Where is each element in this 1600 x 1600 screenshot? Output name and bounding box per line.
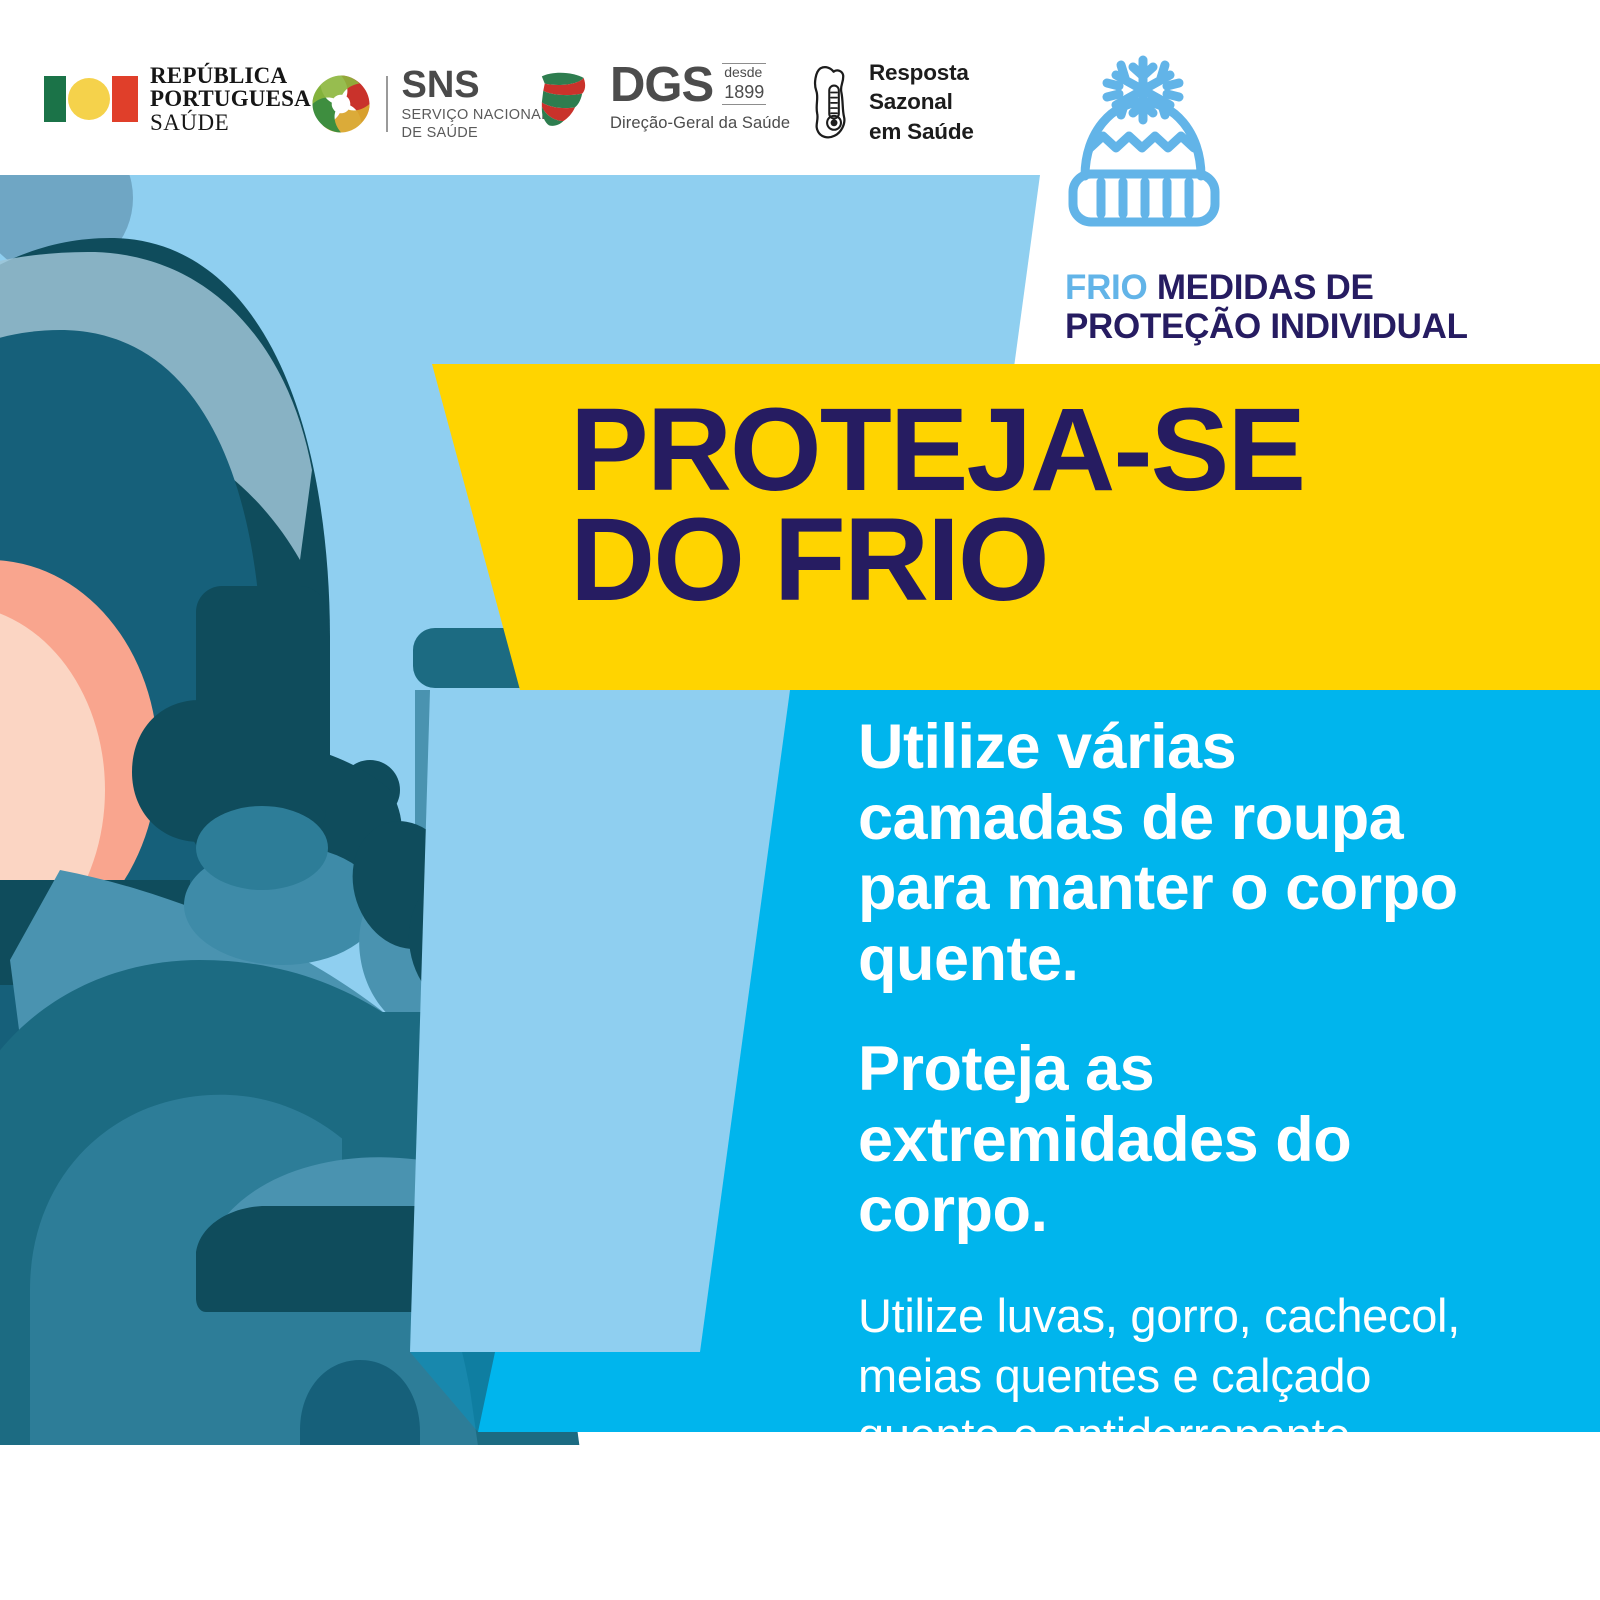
flag-yellow-circle <box>68 78 110 120</box>
headline-group: PROTEJA-SE DO FRIO <box>570 396 1510 615</box>
dgs-since-block: desde 1899 <box>722 63 766 105</box>
resposta-line-1: Resposta <box>869 58 974 87</box>
republica-line-3: SAÚDE <box>150 111 311 134</box>
sns-divider <box>386 76 388 132</box>
body-lead-2: Proteja as extremidades do corpo. <box>858 1034 1518 1246</box>
frio-title: FRIO MEDIDAS DE PROTEÇÃO INDIVIDUAL <box>1065 268 1565 346</box>
headline-line-2: DO FRIO <box>570 506 1510 616</box>
dgs-wordmark: DGS desde 1899 Direção-Geral da Saúde <box>610 63 790 133</box>
dgs-since-year: 1899 <box>724 81 764 104</box>
portugal-flag-icon <box>44 76 138 122</box>
frio-word: FRIO <box>1065 268 1147 307</box>
logo-dgs: DGS desde 1899 Direção-Geral da Saúde <box>526 62 790 134</box>
resposta-sazonal-wordmark: Resposta Sazonal em Saúde <box>869 58 974 146</box>
coat-placket <box>300 1360 420 1600</box>
logo-republica-portuguesa: REPÚBLICA PORTUGUESA SAÚDE <box>44 64 311 134</box>
republica-line-1: REPÚBLICA <box>150 64 311 87</box>
sock-cuff-lower <box>478 690 630 750</box>
dgs-since-label: desde <box>724 64 764 82</box>
headline-line-1: PROTEJA-SE <box>570 396 1510 506</box>
republica-line-2: PORTUGUESA <box>150 87 311 110</box>
sock-cuff-upper <box>413 628 565 688</box>
resposta-line-2: Sazonal <box>869 87 974 116</box>
dgs-shield-icon <box>526 62 598 134</box>
mitten-cuff <box>196 806 328 890</box>
dgs-main-row: DGS desde 1899 <box>610 63 790 108</box>
sns-swirl-icon <box>310 73 372 135</box>
frio-title-line-2: PROTEÇÃO INDIVIDUAL <box>1065 307 1468 346</box>
logo-resposta-sazonal: Resposta Sazonal em Saúde <box>805 58 974 146</box>
body-lead-1: Utilize várias camadas de roupa para man… <box>858 712 1518 994</box>
republica-wordmark: REPÚBLICA PORTUGUESA SAÚDE <box>150 64 311 134</box>
body-detail: Utilize luvas, gorro, cachecol, meias qu… <box>858 1286 1518 1465</box>
flag-green-bar <box>44 76 66 122</box>
resposta-line-3: em Saúde <box>869 117 974 146</box>
logo-sns: SNS SERVIÇO NACIONAL DE SAÚDE <box>310 66 549 142</box>
body-copy-group: Utilize várias camadas de roupa para man… <box>858 712 1518 1465</box>
winter-hat-snowflake-icon <box>1063 50 1283 265</box>
frio-title-rest: MEDIDAS DE <box>1147 268 1373 307</box>
portugal-thermometer-icon <box>805 63 857 141</box>
dgs-subtitle: Direção-Geral da Saúde <box>610 114 790 133</box>
poster-root: PROTEJA-SE DO FRIO Utilize várias camada… <box>0 0 1600 1600</box>
dgs-acronym: DGS <box>610 63 713 108</box>
flag-red-bar <box>112 76 138 122</box>
logo-row: REPÚBLICA PORTUGUESA SAÚDE SNS SERVIÇO N… <box>0 0 1600 180</box>
boot-sole <box>196 1206 640 1312</box>
